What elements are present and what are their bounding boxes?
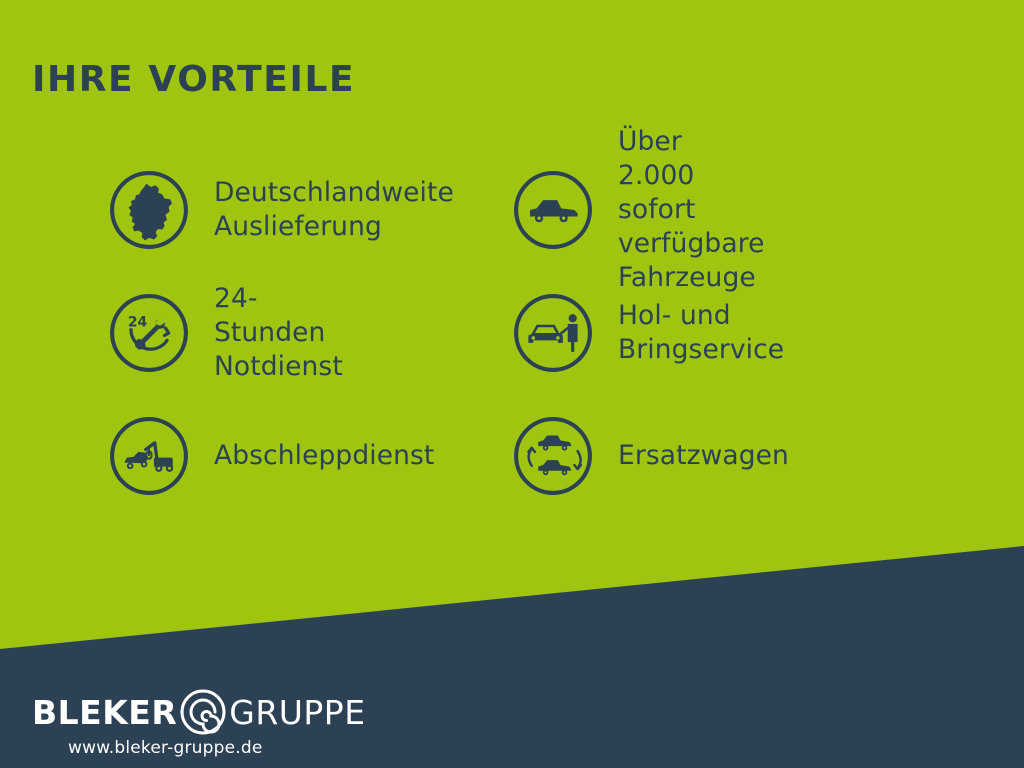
footer-logo[interactable]: BLEKER GRUPPE www.bleker-gruppe.de	[32, 690, 452, 760]
car-with-driver-icon	[512, 292, 594, 374]
benefit-item-ersatzwagen[interactable]: Ersatzwagen	[512, 408, 789, 504]
benefit-label: 24-Stunden Notdienst	[214, 282, 343, 384]
logo-url[interactable]: www.bleker-gruppe.de	[68, 738, 452, 758]
benefit-label: Ersatzwagen	[618, 439, 789, 473]
benefit-item-deutschlandweite-auslieferung[interactable]: Deutschlandweite Auslieferung	[108, 162, 454, 258]
tow-truck-icon	[108, 415, 190, 497]
two-cars-exchange-icon	[512, 415, 594, 497]
green-background-panel	[0, 0, 1024, 768]
page-title: IHRE VORTEILE	[32, 62, 355, 98]
car-side-icon	[512, 169, 594, 251]
benefit-label: Abschleppdienst	[214, 439, 434, 473]
benefit-label: Hol- und Bringservice	[618, 299, 784, 367]
logo-word-gruppe: GRUPPE	[229, 696, 365, 729]
spiral-circle-icon	[179, 688, 227, 736]
logo-word-bleker: BLEKER	[32, 696, 177, 729]
benefit-label: Deutschlandweite Auslieferung	[214, 176, 454, 244]
benefit-item-abschleppdienst[interactable]: Abschleppdienst	[108, 408, 434, 504]
benefit-item-24-stunden-notdienst[interactable]: 24 24-Stunden Notdienst	[108, 285, 343, 381]
icon-text-24: 24	[128, 314, 148, 330]
24-hour-wrench-icon: 24	[108, 292, 190, 374]
logo-lockup: BLEKER GRUPPE	[32, 690, 452, 734]
germany-map-icon	[108, 169, 190, 251]
benefit-label: Über 2.000 sofort verfügbare Fahrzeuge	[618, 125, 765, 295]
benefit-item-verfuegbare-fahrzeuge[interactable]: Über 2.000 sofort verfügbare Fahrzeuge	[512, 162, 765, 258]
slide-canvas: IHRE VORTEILE Deutschlandweite Ausliefer…	[0, 0, 1024, 768]
benefit-item-hol-und-bringservice[interactable]: Hol- und Bringservice	[512, 285, 784, 381]
